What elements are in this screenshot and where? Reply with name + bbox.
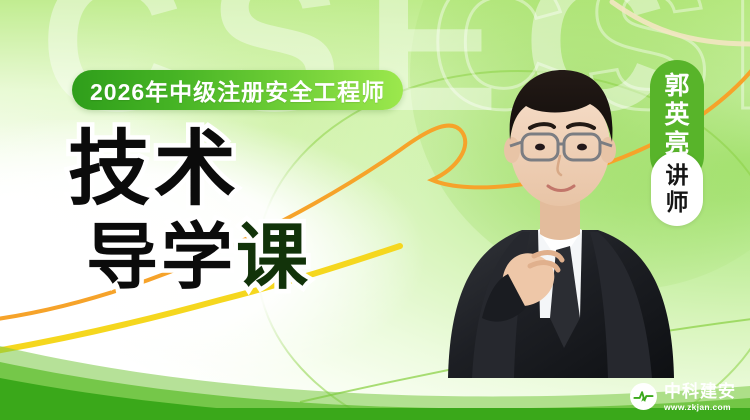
course-banner-pill: 2026年中级注册安全工程师 <box>72 70 403 110</box>
page-title: 技术 导学课 <box>68 128 311 295</box>
instructor-role-badge: 讲 师 <box>651 152 703 226</box>
instructor-name-char-1: 郭 <box>664 72 689 101</box>
brand-text-block: 中科建安 www.zkjan.com <box>664 383 736 412</box>
zkjan-logo-icon <box>630 383 657 410</box>
headline-line-2: 导学课 <box>86 222 311 295</box>
course-poster: CSEC CSEC <box>0 0 750 420</box>
brand-url: www.zkjan.com <box>664 403 736 412</box>
instructor-name-char-2: 英 <box>664 101 689 130</box>
brand-name: 中科建安 <box>664 383 736 400</box>
brand-logo: 中科建安 www.zkjan.com <box>630 383 736 412</box>
headline-line-2-accent: 课 <box>236 218 311 298</box>
instructor-badge: 郭 英 亮 讲 师 <box>650 60 704 183</box>
headline-line-2-plain: 导学 <box>86 218 236 298</box>
instructor-role-char-2: 师 <box>666 189 689 216</box>
headline-line-1: 技术 <box>68 128 311 212</box>
logo-glyph <box>632 385 655 408</box>
instructor-role-char-1: 讲 <box>666 162 689 189</box>
course-banner-label: 2026年中级注册安全工程师 <box>90 73 385 107</box>
